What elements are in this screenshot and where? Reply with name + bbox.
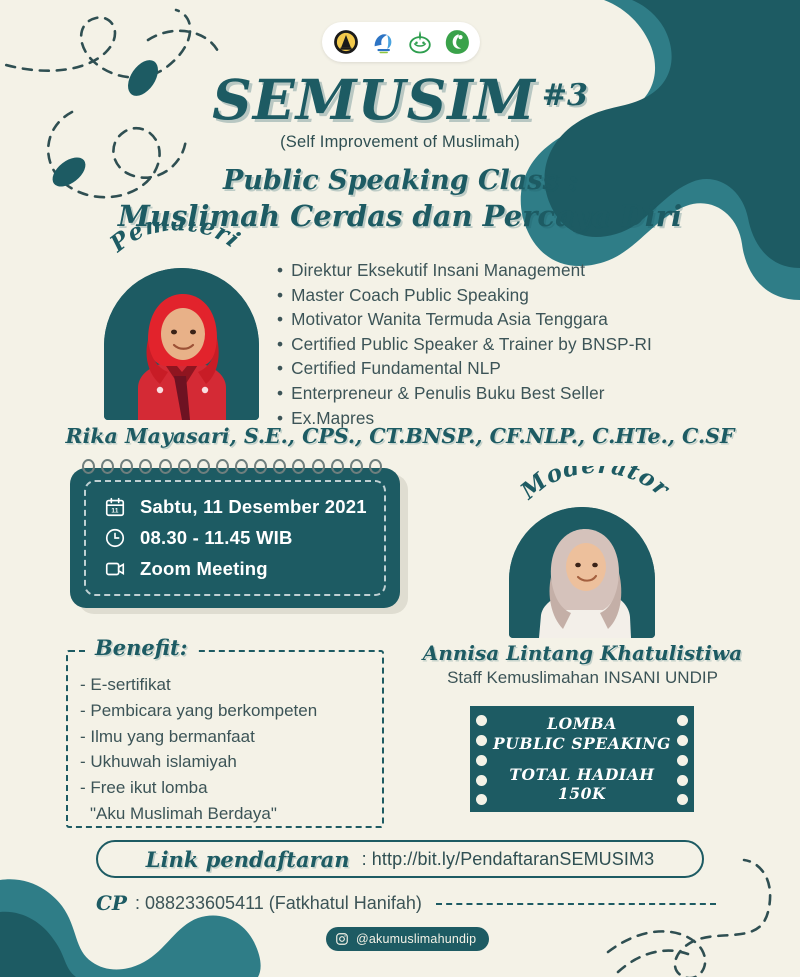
- schedule-date-row: 11 Sabtu, 11 Desember 2021: [104, 496, 384, 518]
- list-item: Motivator Wanita Termuda Asia Tenggara: [277, 307, 737, 332]
- speaker-photo: [104, 268, 259, 420]
- binding-ring: [235, 459, 248, 474]
- ticket-text-block: LOMBA PUBLIC SPEAKING TOTAL HADIAH 150K: [470, 706, 694, 812]
- event-edition: #3: [542, 78, 588, 113]
- binding-ring: [216, 459, 229, 474]
- list-item: - Free ikut lomba: [80, 775, 380, 801]
- moderator-badge: Moderator: [516, 466, 676, 522]
- binding-ring: [178, 459, 191, 474]
- calendar-icon: 11: [104, 496, 126, 518]
- insani-logo: [369, 28, 397, 56]
- ticket-line-1: LOMBA: [547, 714, 617, 733]
- speaker-name: Rika Mayasari, S.E., CPS., CT.BNSP., CF.…: [0, 424, 800, 448]
- undip-logo: [332, 28, 360, 56]
- binding-ring: [312, 459, 325, 474]
- registration-url[interactable]: : http://bit.ly/PendaftaranSEMUSIM3: [362, 849, 655, 870]
- registration-label: Link pendaftaran: [146, 847, 350, 872]
- instagram-icon: [335, 932, 349, 946]
- clock-icon: [104, 527, 126, 549]
- organizer-logo-bar: [322, 22, 480, 62]
- event-title: SEMUSIM: [212, 72, 536, 127]
- list-item: - Ilmu yang bermanfaat: [80, 724, 380, 750]
- list-item: Certified Public Speaker & Trainer by BN…: [277, 332, 737, 357]
- moderator-badge-label: Moderator: [516, 466, 676, 505]
- moderator-name: Annisa Lintang Khatulistiwa: [410, 641, 755, 665]
- schedule-card-inner: 11 Sabtu, 11 Desember 2021 08.30 - 11.45…: [84, 480, 386, 596]
- kemuslimahan-logo: [406, 28, 434, 56]
- binding-ring: [101, 459, 114, 474]
- binding-ring: [254, 459, 267, 474]
- schedule-time-row: 08.30 - 11.45 WIB: [104, 527, 384, 549]
- list-item: - E-sertifikat: [80, 672, 380, 698]
- schedule-platform-row: Zoom Meeting: [104, 558, 384, 580]
- list-item: Certified Fundamental NLP: [277, 356, 737, 381]
- schedule-card-binding-rings: [82, 459, 382, 479]
- list-item: - Ukhuwah islamiyah: [80, 749, 380, 775]
- binding-ring: [331, 459, 344, 474]
- ticket-line-4: 150K: [558, 784, 606, 803]
- contact-person-line: CP : 088233605411 (Fatkhatul Hanifah): [96, 891, 716, 915]
- headline-block: SEMUSIM#3 (Self Improvement of Muslimah)…: [0, 72, 800, 233]
- binding-ring: [159, 459, 172, 474]
- binding-ring: [350, 459, 363, 474]
- event-title-row: SEMUSIM#3: [0, 72, 800, 127]
- event-subtitle: (Self Improvement of Muslimah): [0, 133, 800, 152]
- registration-link-bar[interactable]: Link pendaftaran : http://bit.ly/Pendaft…: [96, 840, 704, 878]
- binding-ring: [292, 459, 305, 474]
- list-item: Enterpreneur & Penulis Buku Best Seller: [277, 381, 737, 406]
- binding-ring: [273, 459, 286, 474]
- schedule-time: 08.30 - 11.45 WIB: [140, 527, 293, 549]
- binding-ring: [120, 459, 133, 474]
- contact-value: : 088233605411 (Fatkhatul Hanifah): [135, 893, 422, 914]
- competition-ticket: LOMBA PUBLIC SPEAKING TOTAL HADIAH 150K: [470, 706, 694, 812]
- event-topic-line-1: Public Speaking Class :: [0, 165, 800, 197]
- benefit-title: Benefit:: [86, 635, 196, 660]
- instagram-badge[interactable]: @akumuslimahundip: [326, 927, 489, 951]
- video-camera-icon: [104, 558, 126, 580]
- poster-canvas: SEMUSIM#3 (Self Improvement of Muslimah)…: [0, 0, 800, 977]
- contact-dashed-rule: [436, 903, 716, 905]
- speaker-credentials-list: Direktur Eksekutif Insani Management Mas…: [277, 258, 737, 430]
- instagram-handle: @akumuslimahundip: [356, 932, 476, 946]
- akumuslimah-logo: [443, 28, 471, 56]
- list-item: - Pembicara yang berkompeten: [80, 698, 380, 724]
- svg-text:11: 11: [111, 508, 118, 515]
- list-item: Direktur Eksekutif Insani Management: [277, 258, 737, 283]
- contact-label: CP: [96, 891, 127, 915]
- ticket-line-3: TOTAL HADIAH: [509, 765, 654, 784]
- schedule-card: 11 Sabtu, 11 Desember 2021 08.30 - 11.45…: [70, 468, 400, 608]
- binding-ring: [197, 459, 210, 474]
- ticket-line-2: PUBLIC SPEAKING: [493, 734, 671, 753]
- binding-ring: [82, 459, 95, 474]
- binding-ring: [139, 459, 152, 474]
- binding-ring: [369, 459, 382, 474]
- list-item: Master Coach Public Speaking: [277, 283, 737, 308]
- schedule-date: Sabtu, 11 Desember 2021: [140, 496, 367, 518]
- event-topic-line-2: Muslimah Cerdas dan Percaya Diri: [0, 199, 800, 233]
- benefit-list: - E-sertifikat - Pembicara yang berkompe…: [80, 672, 380, 827]
- list-item: "Aku Muslimah Berdaya": [80, 801, 380, 827]
- moderator-role: Staff Kemuslimahan INSANI UNDIP: [410, 668, 755, 688]
- schedule-platform: Zoom Meeting: [140, 558, 268, 580]
